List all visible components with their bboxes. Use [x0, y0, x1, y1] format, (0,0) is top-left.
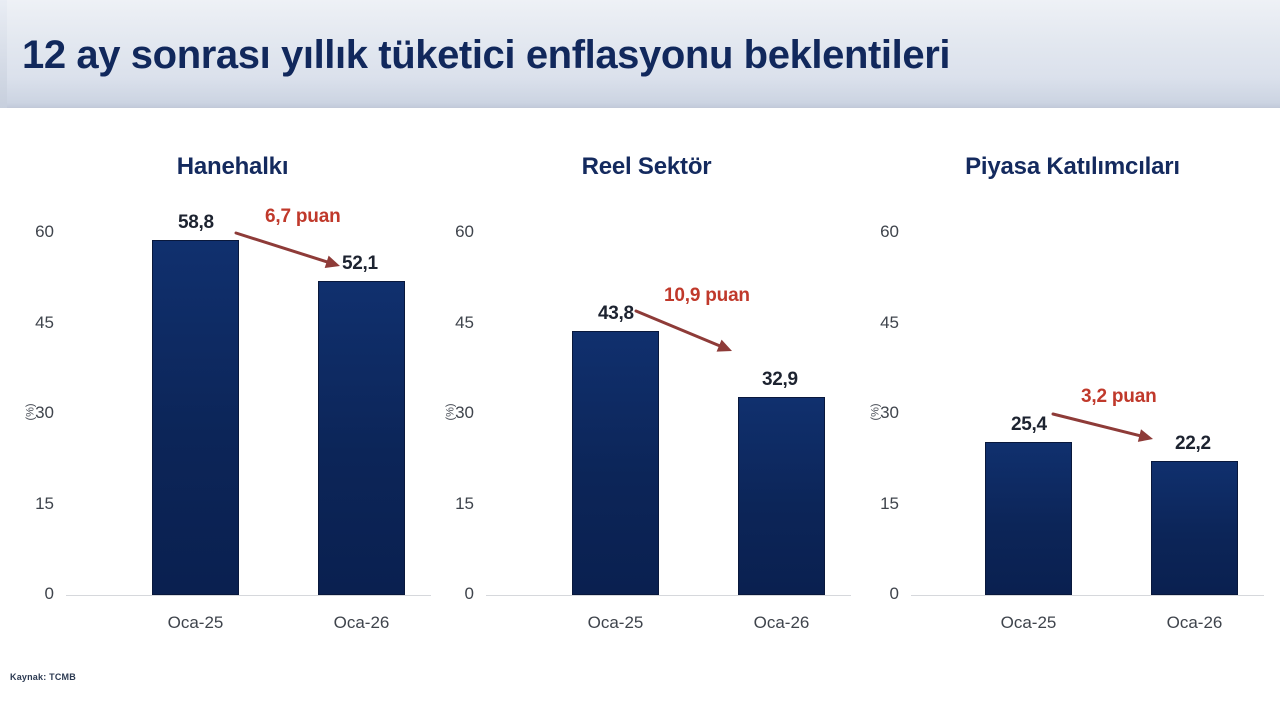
charts-area: Hanehalkı (%)01530456058,8Oca-2552,1Oca-… [0, 108, 1280, 720]
y-axis-tick-label: 30 [855, 403, 899, 423]
page-title: 12 ay sonrası yıllık tüketici enflasyonu… [22, 33, 950, 78]
bar-value-label: 43,8 [598, 303, 634, 325]
bar[interactable] [572, 331, 659, 595]
plot-area: (%)01530456058,8Oca-2552,1Oca-266,7 puan [0, 108, 427, 668]
x-axis-tick-label: Oca-26 [738, 613, 825, 633]
y-axis-tick-label: 15 [10, 494, 54, 514]
x-axis-tick-label: Oca-25 [985, 613, 1072, 633]
y-axis-tick-label: 15 [430, 494, 474, 514]
y-axis-tick-label: 45 [855, 313, 899, 333]
x-axis-baseline [911, 595, 1264, 596]
chart-panel-reel-sektor: Reel Sektör (%)01530456043,8Oca-2532,9Oc… [420, 108, 847, 668]
bar-value-label: 32,9 [762, 369, 798, 391]
bar[interactable] [985, 442, 1072, 595]
change-annotation-label: 3,2 puan [1081, 386, 1156, 408]
x-axis-tick-label: Oca-25 [572, 613, 659, 633]
x-axis-baseline [486, 595, 851, 596]
x-axis-tick-label: Oca-26 [318, 613, 405, 633]
bar-value-label: 25,4 [1011, 414, 1047, 436]
plot-area: (%)01530456025,4Oca-2522,2Oca-263,2 puan [845, 108, 1272, 668]
y-axis-tick-label: 0 [430, 584, 474, 604]
bar-value-label: 52,1 [342, 253, 378, 275]
chart-panel-piyasa-katilimcilari: Piyasa Katılımcıları (%)01530456025,4Oca… [845, 108, 1272, 668]
y-axis-tick-label: 60 [855, 222, 899, 242]
x-axis-baseline [66, 595, 431, 596]
bar[interactable] [738, 397, 825, 595]
change-annotation-label: 6,7 puan [265, 206, 340, 228]
bar-value-label: 22,2 [1175, 433, 1211, 455]
y-axis-tick-label: 60 [430, 222, 474, 242]
change-annotation-label: 10,9 puan [664, 285, 750, 307]
plot-area: (%)01530456043,8Oca-2532,9Oca-2610,9 pua… [420, 108, 847, 668]
y-axis-tick-label: 15 [855, 494, 899, 514]
y-axis-tick-label: 60 [10, 222, 54, 242]
y-axis-tick-label: 45 [10, 313, 54, 333]
y-axis-tick-label: 0 [855, 584, 899, 604]
x-axis-tick-label: Oca-26 [1151, 613, 1238, 633]
slide-header-band: 12 ay sonrası yıllık tüketici enflasyonu… [0, 0, 1280, 108]
bar[interactable] [318, 281, 405, 595]
y-axis-tick-label: 0 [10, 584, 54, 604]
x-axis-tick-label: Oca-25 [152, 613, 239, 633]
y-axis-tick-label: 30 [10, 403, 54, 423]
bar[interactable] [1151, 461, 1238, 595]
y-axis-tick-label: 45 [430, 313, 474, 333]
bar[interactable] [152, 240, 239, 595]
bar-value-label: 58,8 [178, 212, 214, 234]
chart-panel-hanehalki: Hanehalkı (%)01530456058,8Oca-2552,1Oca-… [0, 108, 427, 668]
decrease-arrow-icon [222, 219, 354, 280]
source-note: Kaynak: TCMB [10, 672, 76, 682]
y-axis-tick-label: 30 [430, 403, 474, 423]
